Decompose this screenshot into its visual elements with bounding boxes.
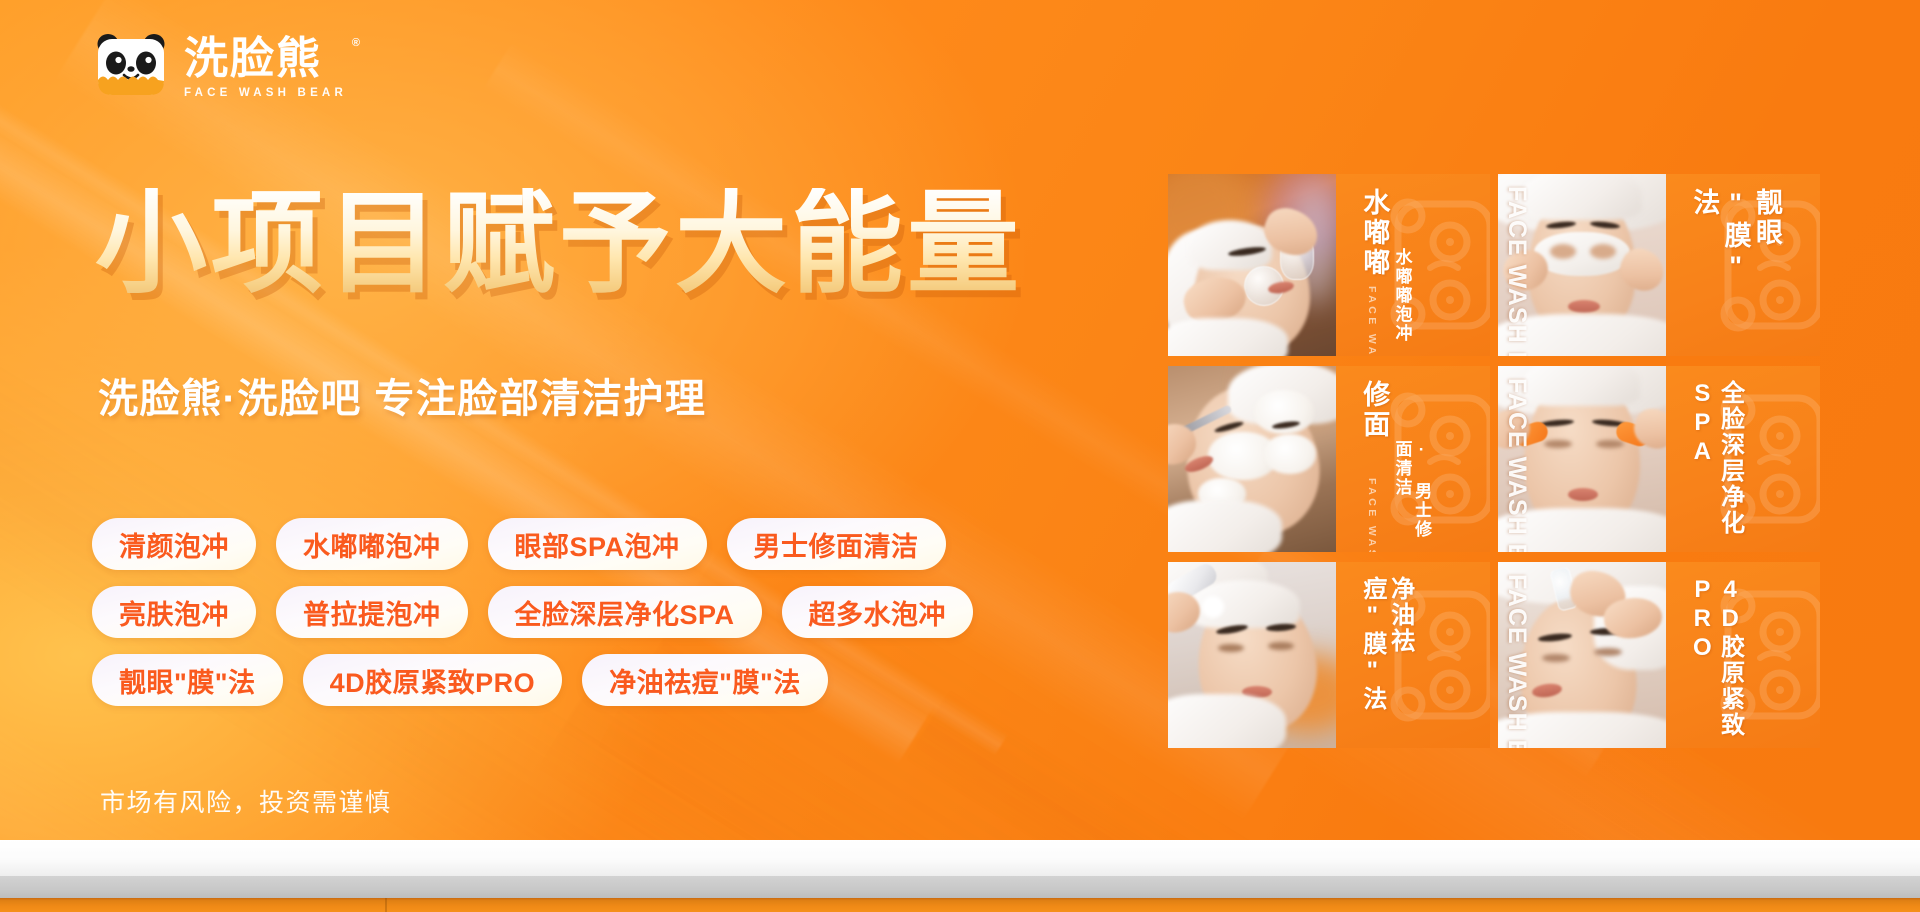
service-tag[interactable]: 眼部SPA泡冲 [488, 518, 707, 570]
service-tag[interactable]: 水嘟嘟泡冲 [276, 518, 468, 570]
shelf-orange-strip [0, 898, 1920, 912]
tag-row: 亮肤泡冲 普拉提泡冲 全脸深层净化SPA 超多水泡冲 [92, 586, 1122, 638]
treatment-photo: FACE WASH BEAR [1498, 562, 1666, 748]
promo-banner: 洗脸熊 ® FACE WASH BEAR 小项目赋予大能量 洗脸熊·洗脸吧 专注… [0, 0, 1920, 912]
treatment-title: 全脸深层净化SPA [1688, 380, 1744, 542]
brand-watermark-text: FACE WASH BEAR [1366, 286, 1378, 356]
risk-disclaimer: 市场有风险，投资需谨慎 [100, 783, 392, 819]
service-tag[interactable]: 净油祛痘"膜"法 [582, 654, 828, 706]
page-subtitle: 洗脸熊·洗脸吧 专注脸部清洁护理 [98, 366, 706, 424]
gallery-card[interactable]: 水嘟嘟 FACE WASH BEAR 水嘟嘟泡冲 [1168, 174, 1490, 356]
service-tag[interactable]: 4D胶原紧致PRO [303, 654, 563, 706]
treatment-title: 净油祛痘"膜"法 [1358, 576, 1414, 738]
tag-row: 靓眼"膜"法 4D胶原紧致PRO 净油祛痘"膜"法 [92, 654, 1122, 706]
shelf-grey-strip [0, 876, 1920, 898]
gallery-card[interactable]: FACE WASH BEAR 靓眼 "膜" 法 [1498, 174, 1820, 356]
treatment-title: 水嘟嘟 [1358, 188, 1389, 278]
treatment-label-panel: 靓眼 "膜" 法 [1666, 174, 1820, 356]
shelf-white-strip [0, 840, 1920, 876]
treatment-title: 4D胶原紧致PRO [1688, 576, 1744, 738]
service-tag[interactable]: 男士修面清洁 [727, 518, 946, 570]
service-tag[interactable]: 普拉提泡冲 [276, 586, 468, 638]
treatment-label-panel: 水嘟嘟 FACE WASH BEAR 水嘟嘟泡冲 [1336, 174, 1490, 356]
treatment-photo [1168, 366, 1336, 552]
brand-watermark-text: FACE WASH BEAR [1366, 478, 1378, 552]
service-tag[interactable]: 清颜泡冲 [92, 518, 256, 570]
brand-name-en: FACE WASH BEAR [184, 87, 347, 99]
treatment-title: 靓眼 "膜" 法 [1688, 188, 1782, 284]
service-tag[interactable]: 超多水泡冲 [782, 586, 974, 638]
treatment-label-panel: 净油祛痘"膜"法 [1336, 562, 1490, 748]
brand-name-cn: 洗脸熊 [184, 37, 347, 81]
gallery-card[interactable]: FACE WASH BEAR 4D胶原紧致PRO [1498, 562, 1820, 748]
treatment-label-panel: 全脸深层净化SPA [1666, 366, 1820, 552]
treatment-subtitle: 水嘟嘟泡冲 [1392, 248, 1412, 343]
treatment-photo: FACE WASH BEAR [1498, 174, 1666, 356]
service-tag[interactable]: 靓眼"膜"法 [92, 654, 283, 706]
registered-mark: ® [352, 37, 360, 49]
treatment-label-panel: 4D胶原紧致PRO [1666, 562, 1820, 748]
treatment-photo: FACE WASH BEAR [1498, 366, 1666, 552]
brand-logo[interactable]: 洗脸熊 ® FACE WASH BEAR [92, 30, 347, 104]
treatment-gallery: 水嘟嘟 FACE WASH BEAR 水嘟嘟泡冲 [1168, 174, 1820, 748]
treatment-label-panel: 修面 FACE WASH BEAR · 男士修面清洁 [1336, 366, 1490, 552]
treatment-photo [1168, 562, 1336, 748]
gallery-card[interactable]: 净油祛痘"膜"法 [1168, 562, 1490, 748]
treatment-title: 修面 [1358, 380, 1389, 440]
gallery-card[interactable]: FACE WASH BEAR 全脸深层净化SPA [1498, 366, 1820, 552]
page-title: 小项目赋予大能量 [95, 188, 1023, 300]
service-tag[interactable]: 亮肤泡冲 [92, 586, 256, 638]
brand-wordmark: 洗脸熊 ® FACE WASH BEAR [184, 35, 347, 99]
service-tag-list: 清颜泡冲 水嘟嘟泡冲 眼部SPA泡冲 男士修面清洁 亮肤泡冲 普拉提泡冲 全脸深… [92, 518, 1122, 722]
tag-row: 清颜泡冲 水嘟嘟泡冲 眼部SPA泡冲 男士修面清洁 [92, 518, 1122, 570]
treatment-subtitle: · 男士修面清洁 [1392, 440, 1431, 552]
panda-face-logo-icon [92, 30, 170, 104]
treatment-photo [1168, 174, 1336, 356]
service-tag[interactable]: 全脸深层净化SPA [488, 586, 762, 638]
gallery-card[interactable]: 修面 FACE WASH BEAR · 男士修面清洁 [1168, 366, 1490, 552]
